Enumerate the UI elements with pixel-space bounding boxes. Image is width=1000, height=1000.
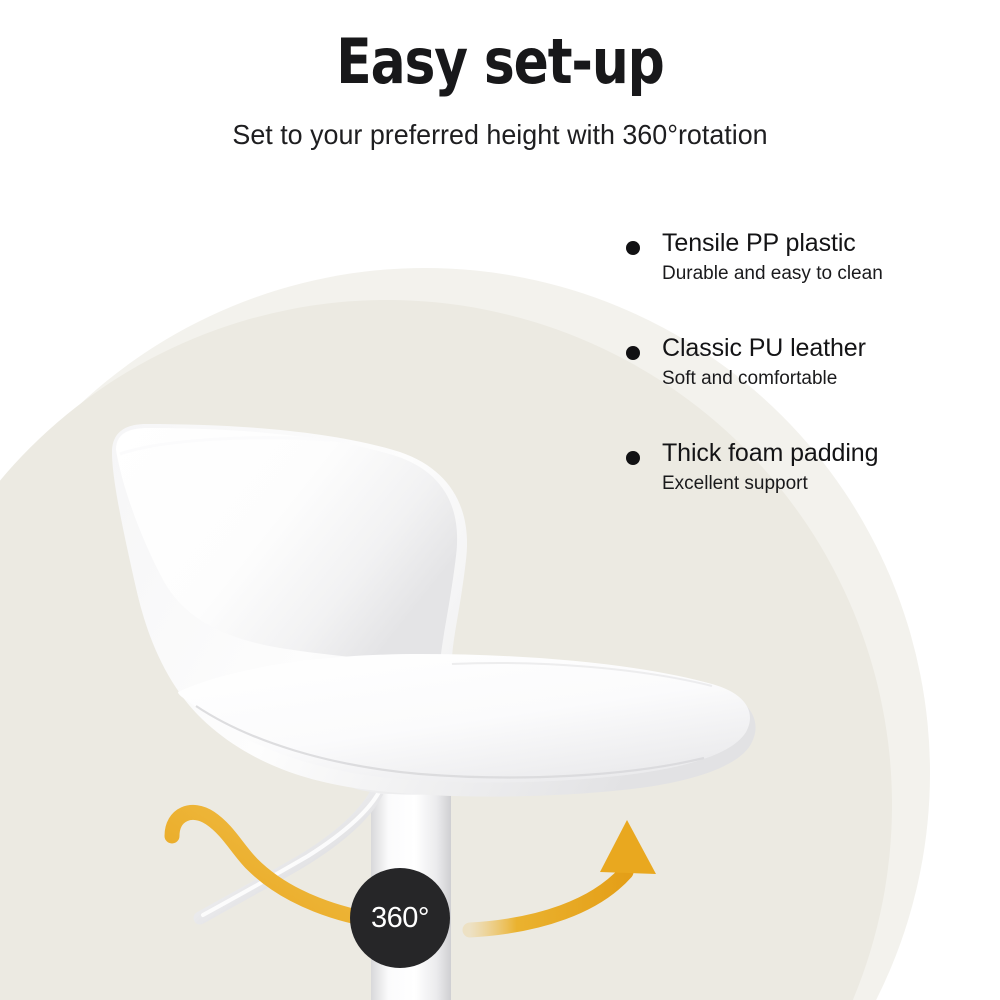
feature-title: Tensile PP plastic xyxy=(662,228,950,259)
bullet-dot-icon xyxy=(626,241,640,255)
feature-subtitle: Soft and comfortable xyxy=(662,366,950,391)
feature-title: Thick foam padding xyxy=(662,438,950,469)
feature-list: Tensile PP plastic Durable and easy to c… xyxy=(620,228,950,496)
feature-subtitle: Excellent support xyxy=(662,471,950,496)
rotation-badge-label: 360° xyxy=(371,902,429,935)
rotation-badge: 360° xyxy=(350,868,450,968)
feature-item-tensile-pp-plastic: Tensile PP plastic Durable and easy to c… xyxy=(620,228,950,286)
feature-item-classic-pu-leather: Classic PU leather Soft and comfortable xyxy=(620,333,950,391)
product-feature-graphic: Easy set-up Set to your preferred height… xyxy=(0,0,1000,1000)
feature-title: Classic PU leather xyxy=(662,333,950,364)
page-title: Easy set-up xyxy=(35,28,965,96)
page-subtitle: Set to your preferred height with 360°ro… xyxy=(20,118,980,152)
feature-subtitle: Durable and easy to clean xyxy=(662,261,950,286)
bullet-dot-icon xyxy=(626,346,640,360)
bullet-dot-icon xyxy=(626,451,640,465)
feature-item-thick-foam-padding: Thick foam padding Excellent support xyxy=(620,438,950,496)
